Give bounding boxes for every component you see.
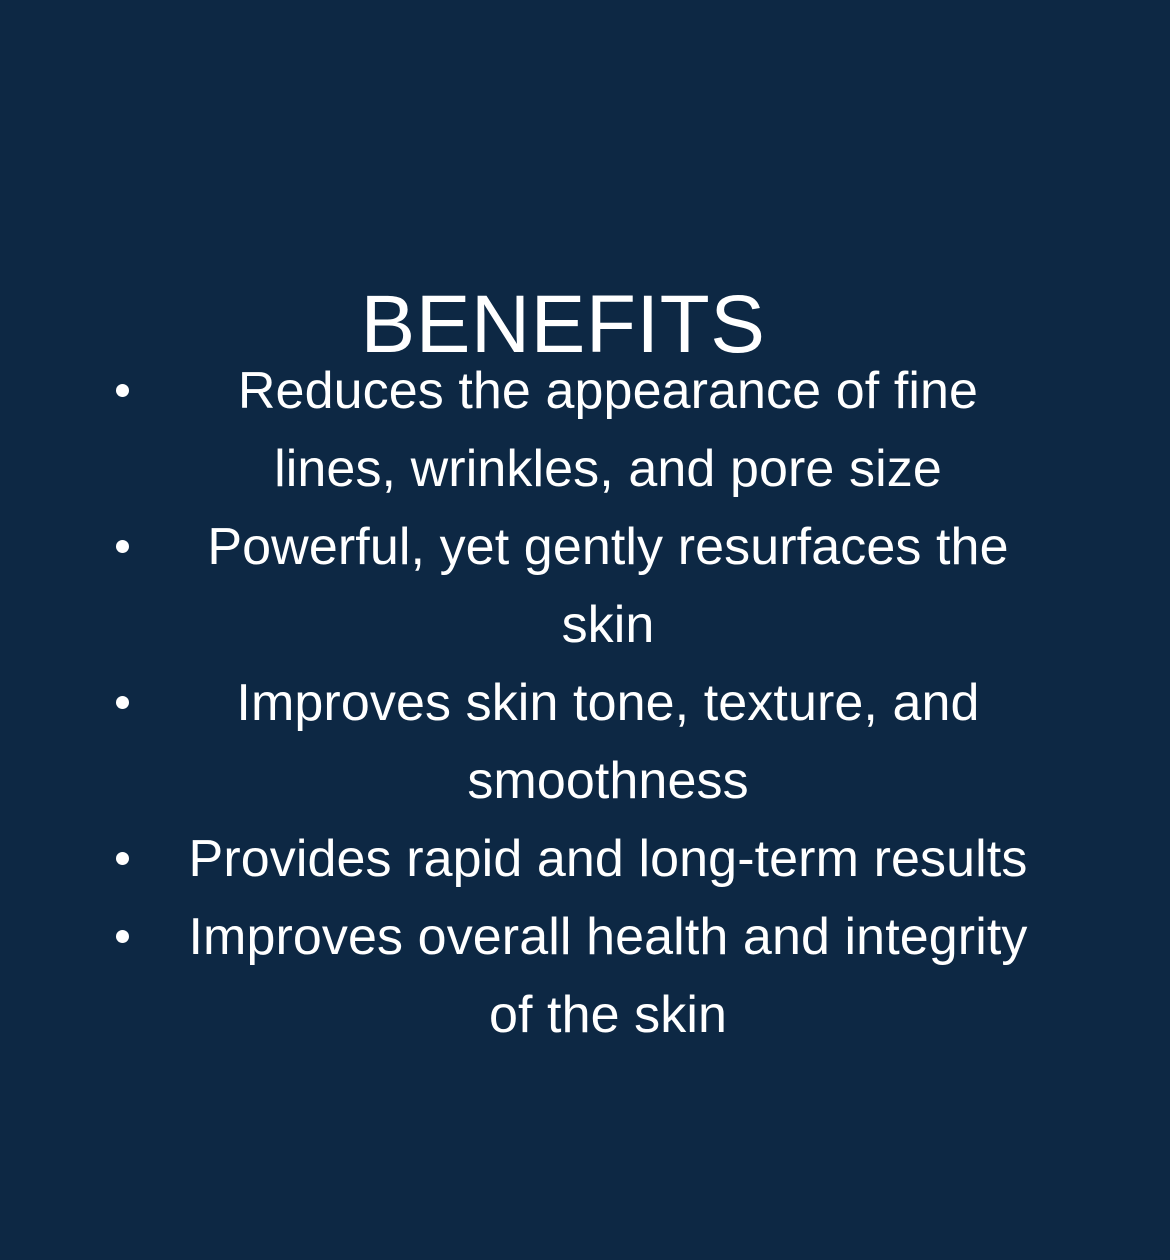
bullet-icon xyxy=(116,696,129,709)
benefit-text: Improves overall health and integrity of… xyxy=(188,908,1027,1044)
list-item: Improves skin tone, texture, and smoothn… xyxy=(0,664,1170,820)
list-item: Provides rapid and long-term results xyxy=(0,820,1170,898)
bullet-icon xyxy=(116,384,129,397)
bullet-icon xyxy=(116,852,129,865)
benefit-text: Provides rapid and long-term results xyxy=(189,830,1028,888)
bullet-icon xyxy=(116,930,129,943)
benefits-card: BENEFITS Reduces the appearance of fine … xyxy=(0,0,1170,1260)
list-item: Improves overall health and integrity of… xyxy=(0,898,1170,1054)
benefit-text: Improves skin tone, texture, and smoothn… xyxy=(236,674,979,810)
list-item: Powerful, yet gently resurfaces the skin xyxy=(0,508,1170,664)
bullet-icon xyxy=(116,540,129,553)
benefits-list: Reduces the appearance of fine lines, wr… xyxy=(0,352,1170,1054)
benefit-text: Powerful, yet gently resurfaces the skin xyxy=(207,518,1008,654)
list-item: Reduces the appearance of fine lines, wr… xyxy=(0,352,1170,508)
benefit-text: Reduces the appearance of fine lines, wr… xyxy=(238,362,978,498)
